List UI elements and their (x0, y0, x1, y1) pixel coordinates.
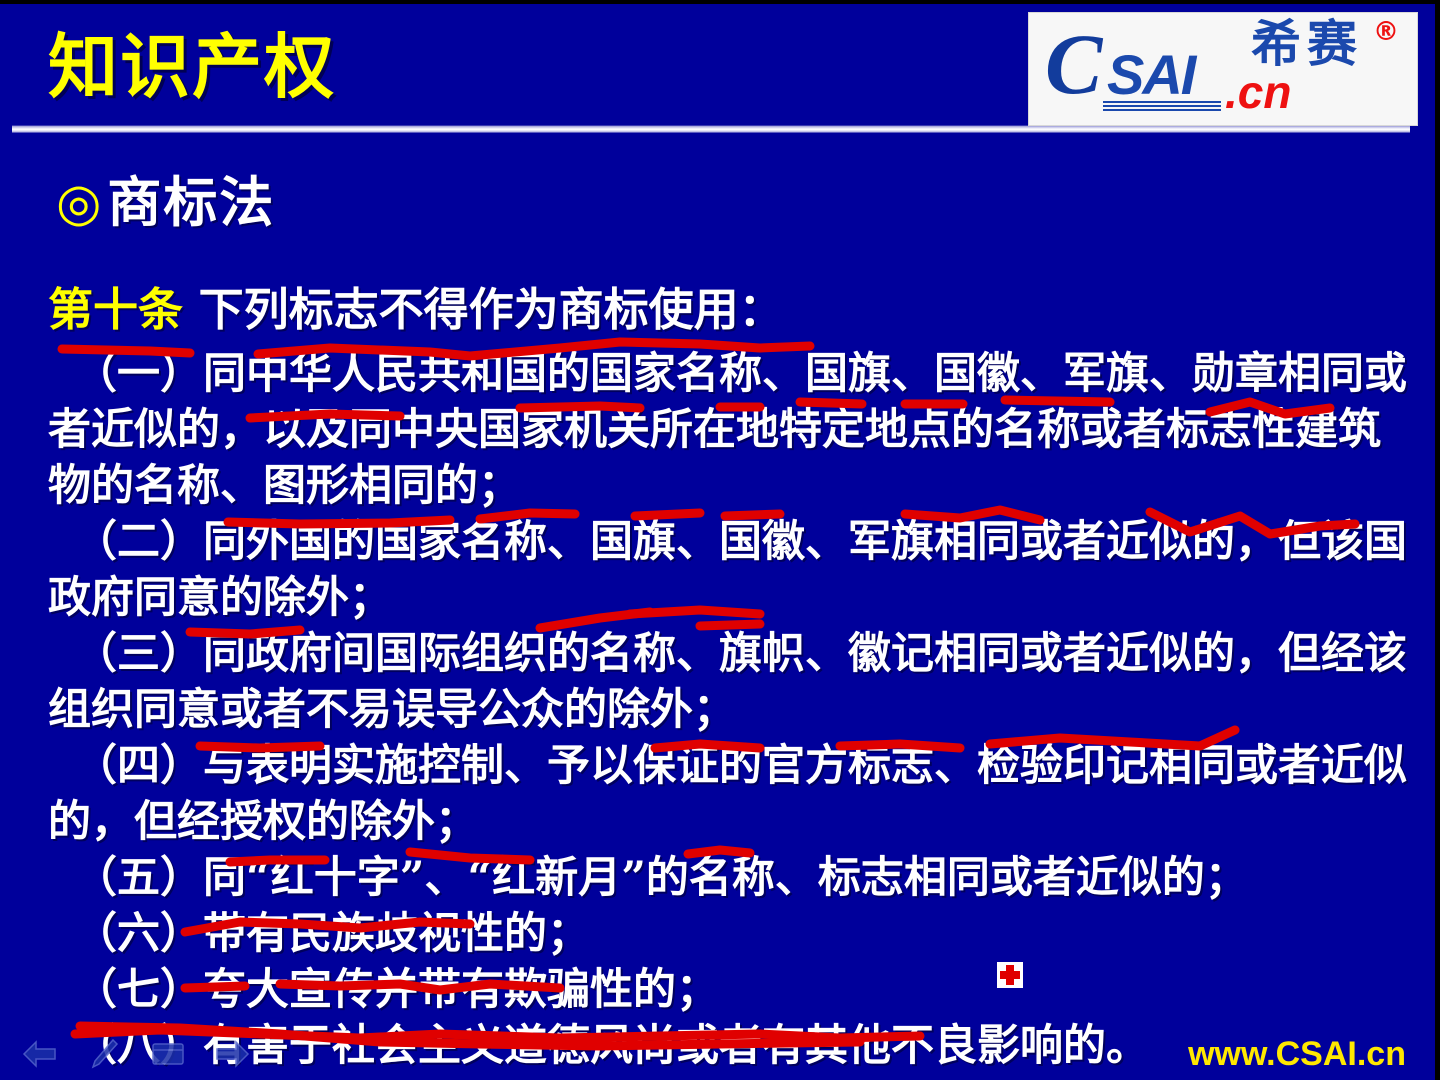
pen-icon (89, 1038, 119, 1070)
next-slide-button[interactable] (214, 1038, 250, 1070)
logo-cjk-name: 希赛 (1251, 19, 1363, 69)
slide-body: ◎ 商标法 第十条 下列标志不得作为商标使用： （一）同中华人民共和国的国家名称… (0, 136, 1440, 1024)
list-item: （三）同政府间国际组织的名称、旗帜、徽记相同或者近似的，但经该组织同意或者不易误… (48, 626, 1416, 738)
clause-list: （一）同中华人民共和国的国家名称、国旗、国徽、军旗、勋章相同或者近似的，以及同中… (48, 346, 1416, 1074)
list-item: （二）同外国的国家名称、国旗、国徽、军旗相同或者近似的，但该国政府同意的除外； (48, 514, 1416, 626)
red-cross-marker-icon (997, 962, 1023, 988)
slide-menu-button[interactable] (150, 1038, 186, 1070)
logo-domain-suffix: .cn (1225, 69, 1291, 115)
list-item: （一）同中华人民共和国的国家名称、国旗、国徽、军旗、勋章相同或者近似的，以及同中… (48, 346, 1416, 514)
section-heading: ◎ 商标法 (56, 174, 275, 232)
slide-footer: www.CSAI.cn (0, 1024, 1440, 1080)
previous-slide-button[interactable] (22, 1038, 58, 1070)
section-title: 商标法 (107, 174, 275, 232)
right-arrow-icon (214, 1039, 250, 1069)
site-url: www.CSAI.cn (1188, 1034, 1406, 1074)
csai-logo: C SAI .cn 希赛 ® (1028, 12, 1418, 126)
page-title: 知识产权 (48, 26, 336, 108)
slide-header: 知识产权 C SAI .cn 希赛 ® (0, 4, 1440, 136)
logo-underline-stripes (1103, 101, 1221, 112)
presentation-slide: 知识产权 C SAI .cn 希赛 ® ◎ 商标法 第十条 下列标志不得作为商标… (0, 0, 1440, 1080)
list-item: （六）带有民族歧视性的； (48, 906, 1416, 962)
pen-tool-button[interactable] (86, 1038, 122, 1070)
list-item: （四）与表明实施控制、予以保证的官方标志、检验印记相同或者近似的，但经授权的除外… (48, 738, 1416, 850)
list-item: （五）同“红十字”、“红新月”的名称、标志相同或者近似的； (48, 850, 1416, 906)
left-arrow-icon (22, 1039, 58, 1069)
list-item: （七）夸大宣传并带有欺骗性的； (48, 962, 1416, 1018)
article-heading: 第十条 下列标志不得作为商标使用： (48, 284, 784, 336)
article-number: 第十条 (48, 283, 183, 336)
registered-trademark-icon: ® (1373, 19, 1399, 45)
logo-word-sai: SAI (1107, 47, 1194, 103)
slideshow-nav-controls (22, 1038, 250, 1070)
rectangle-menu-icon (151, 1040, 185, 1068)
article-statement: 下列标志不得作为商标使用： (183, 283, 784, 336)
logo-letter-c: C (1045, 21, 1102, 107)
double-circle-icon: ◎ (56, 177, 101, 229)
